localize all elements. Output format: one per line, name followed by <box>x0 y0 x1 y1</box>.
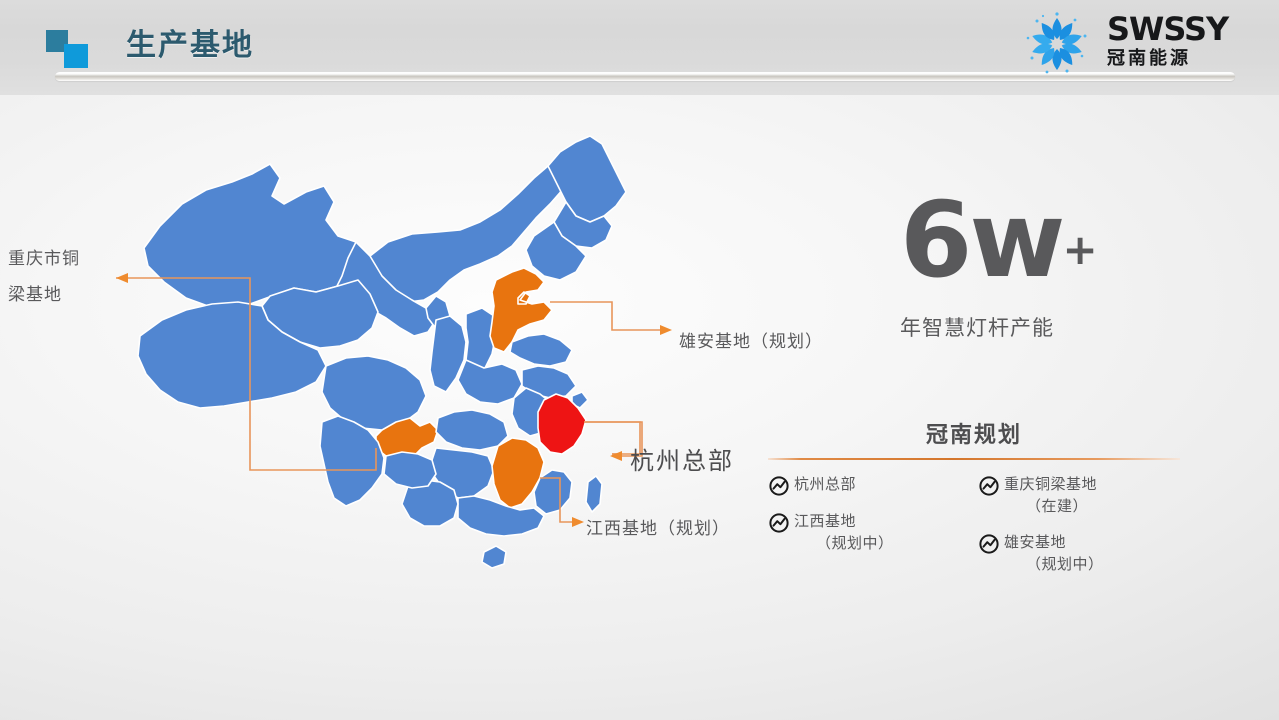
connector-jiangxi-arrow <box>572 517 584 527</box>
plan-item-hangzhou-line1: 杭州总部 <box>794 476 856 493</box>
plan-divider <box>768 458 1180 460</box>
circle-zigzag-icon <box>768 475 790 497</box>
plan-column-right: 重庆铜梁基地 （在建） 雄安基地 （规划中） <box>974 474 1180 590</box>
accent-square-bottom <box>64 44 88 68</box>
connector-hangzhou-arrow <box>610 451 622 461</box>
china-map <box>120 130 680 570</box>
circle-zigzag-icon <box>978 533 1000 555</box>
plan-column-left: 杭州总部 江西基地 （规划中） <box>768 474 974 590</box>
logo-brand-cn: 冠南能源 <box>1107 47 1228 69</box>
logo-wordmark: SWSSY 冠南能源 <box>1107 12 1228 69</box>
slide-header: 生产基地 <box>0 0 1279 95</box>
callout-chongqing-line1: 重庆市铜 <box>8 241 108 277</box>
plan-panel: 冠南规划 杭州总部 <box>768 420 1180 590</box>
connector-xiongan-arrow <box>660 325 672 335</box>
callout-hangzhou: 杭州总部 <box>630 447 734 476</box>
plan-list: 杭州总部 江西基地 （规划中） <box>768 474 1180 590</box>
plan-item-xiongan-line2: （规划中） <box>1004 554 1104 576</box>
connector-jiangxi <box>540 478 578 522</box>
stat-plus-sign: + <box>1062 225 1097 274</box>
plan-item-chongqing-label: 重庆铜梁基地 （在建） <box>1004 474 1097 518</box>
plan-item-chongqing-line1: 重庆铜梁基地 <box>1004 476 1097 493</box>
circle-zigzag-icon <box>978 475 1000 497</box>
page-title: 生产基地 <box>126 26 254 66</box>
callout-jiangxi: 江西基地（规划） <box>586 514 730 543</box>
plan-item-jiangxi-label: 江西基地 （规划中） <box>794 511 894 555</box>
plan-item-chongqing-line2: （在建） <box>1004 496 1097 518</box>
company-logo: SWSSY 冠南能源 <box>1011 8 1261 78</box>
plan-item-xiongan-line1: 雄安基地 <box>1004 534 1066 551</box>
logo-brand: SWSSY <box>1107 12 1228 46</box>
plan-title: 冠南规划 <box>768 420 1180 450</box>
stat-number: 6w <box>900 179 1062 301</box>
plan-item-jiangxi-line1: 江西基地 <box>794 513 856 530</box>
callout-xiongan: 雄安基地（规划） <box>679 327 823 356</box>
water-droplet-burst-logo-icon <box>1011 12 1103 76</box>
plan-item-jiangxi-line2: （规划中） <box>794 533 894 555</box>
stat-caption: 年智慧灯杆产能 <box>900 312 1098 342</box>
connector-xiongan <box>550 302 666 330</box>
plan-item-hangzhou-label: 杭州总部 <box>794 474 856 496</box>
plan-item-hangzhou[interactable]: 杭州总部 <box>768 474 974 497</box>
callout-chongqing-line2: 梁基地 <box>8 277 108 313</box>
plan-item-chongqing[interactable]: 重庆铜梁基地 （在建） <box>978 474 1180 518</box>
connector-chongqing-arrow <box>116 273 128 283</box>
connector-chongqing <box>116 278 376 470</box>
capacity-stat: 6w+ 年智慧灯杆产能 <box>900 188 1098 342</box>
slide-canvas: 生产基地 <box>0 0 1279 720</box>
callout-chongqing: 重庆市铜 梁基地 <box>8 241 108 313</box>
plan-item-jiangxi[interactable]: 江西基地 （规划中） <box>768 511 974 555</box>
plan-item-xiongan-label: 雄安基地 （规划中） <box>1004 532 1104 576</box>
circle-zigzag-icon <box>768 512 790 534</box>
stat-number-row: 6w+ <box>900 188 1098 302</box>
plan-item-xiongan[interactable]: 雄安基地 （规划中） <box>978 532 1180 576</box>
